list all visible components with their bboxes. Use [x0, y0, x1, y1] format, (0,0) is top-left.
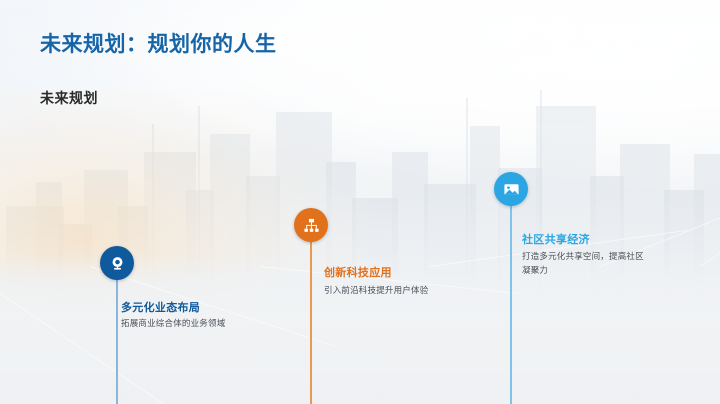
webcam-icon — [109, 255, 126, 272]
timeline-connector-line — [510, 172, 512, 404]
timeline-marker-pin[interactable] — [294, 208, 328, 242]
timeline-item-label: 多元化业态布局 — [121, 299, 200, 315]
timeline-item-description: 引入前沿科技提升用户体验 — [324, 283, 446, 297]
sitemap-icon — [303, 217, 320, 234]
page-subtitle: 未来规划 — [40, 88, 98, 108]
image-icon — [503, 181, 520, 198]
background-sky — [0, 0, 720, 404]
slide-canvas: 未来规划：规划你的人生 未来规划 多元化业态布局拓展商业综合体的业务领域创新科技… — [0, 0, 720, 404]
timeline-marker-pin[interactable] — [100, 246, 134, 280]
page-title: 未来规划：规划你的人生 — [40, 28, 277, 58]
timeline-item-description: 拓展商业综合体的业务领域 — [121, 316, 243, 330]
timeline-marker-pin[interactable] — [494, 172, 528, 206]
timeline-item-label: 创新科技应用 — [324, 264, 392, 280]
timeline-item-label: 社区共享经济 — [522, 231, 590, 247]
timeline-item-description: 打造多元化共享空间，提高社区凝聚力 — [522, 249, 644, 277]
